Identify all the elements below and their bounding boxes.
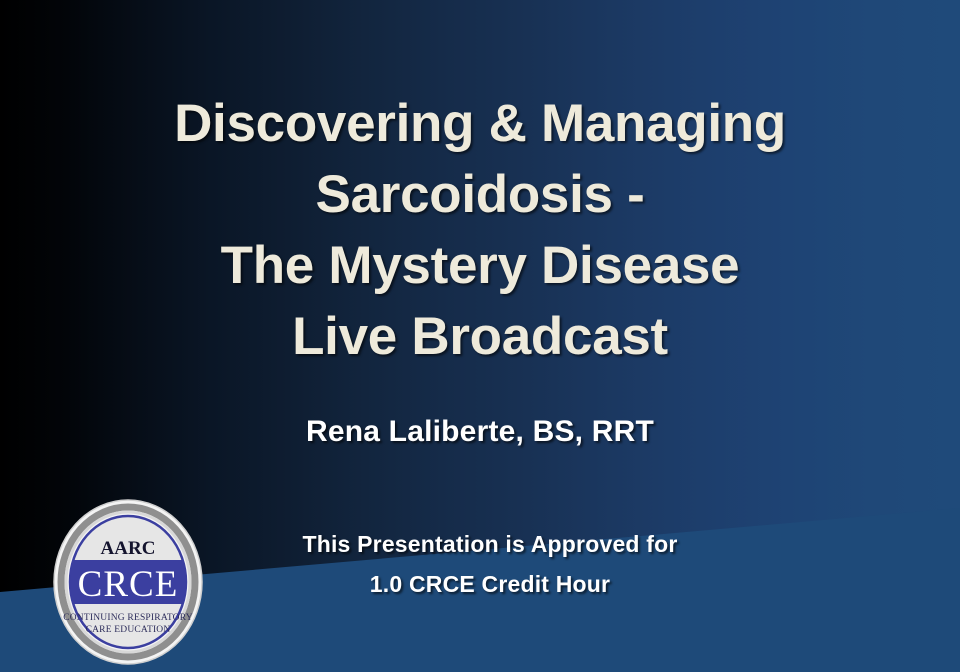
presenter-name: Rena Laliberte, BS, RRT (80, 415, 880, 449)
crce-seal-logo: AARC CRCE CONTINUING RESPIRATORY CARE ED… (52, 498, 204, 666)
logo-caption-line-2: CARE EDUCATION (86, 625, 171, 635)
logo-aarc-monogram: AARC (101, 538, 156, 559)
logo-crce-wordmark: CRCE (78, 564, 179, 605)
credit-approval-text: This Presentation is Approved for 1.0 CR… (190, 524, 790, 604)
logo-caption-line-1: CONTINUING RESPIRATORY (63, 613, 193, 623)
presentation-slide: Discovering & Managing Sarcoidosis - The… (0, 0, 960, 672)
page-title: Discovering & Managing Sarcoidosis - The… (60, 88, 900, 372)
